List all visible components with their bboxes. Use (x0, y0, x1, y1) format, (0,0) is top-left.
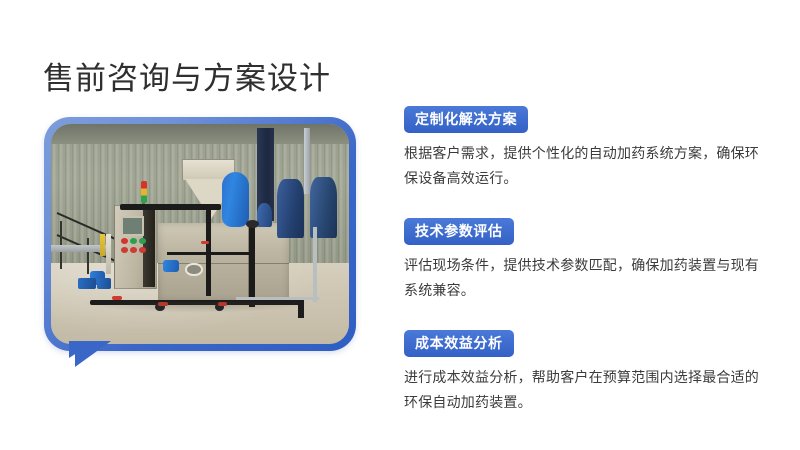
photo-pilot-lamp (139, 238, 146, 244)
photo-stack-light (141, 181, 147, 203)
photo-blue-mixing-drum (222, 172, 249, 227)
feature-item-custom-solution: 定制化解决方案 根据客户需求，提供个性化的自动加药系统方案，确保环保设备高效运行… (404, 106, 770, 191)
photo-rail-post (87, 238, 89, 273)
photo-pilot-lamp (130, 238, 137, 244)
photo-small-vessel (257, 203, 272, 227)
photo-speech-bubble (44, 117, 356, 351)
feature-badge-custom-solution[interactable]: 定制化解决方案 (404, 106, 528, 133)
feature-body-cost-benefit: 进行成本效益分析，帮助客户在预算范围内选择最合适的环保自动加药装置。 (404, 365, 760, 415)
page-title: 售前咨询与方案设计 (43, 59, 331, 99)
speech-bubble-tail (75, 341, 111, 367)
photo-pilot-lamp (121, 247, 128, 253)
feature-item-cost-benefit: 成本效益分析 进行成本效益分析，帮助客户在预算范围内选择最合适的环保自动加药装置… (404, 330, 770, 415)
photo-pipe-mid (167, 252, 250, 256)
photo-dosing-pump (97, 278, 110, 289)
photo-pipe-joint (246, 220, 259, 228)
photo-cabinet-side (143, 205, 155, 286)
photo-hmi-screen (121, 216, 144, 235)
feature-list: 定制化解决方案 根据客户需求，提供个性化的自动加药系统方案，确保环保设备高效运行… (404, 106, 770, 429)
photo-skid-frame (236, 297, 319, 300)
photo-wall-pipe (304, 128, 310, 194)
feature-badge-technical-assessment[interactable]: 技术参数评估 (404, 218, 514, 245)
photo-pipe-vertical (249, 223, 255, 307)
photo-pressure-vessel (277, 179, 304, 238)
photo-yellow-column (100, 234, 105, 256)
photo-red-valve-handle (201, 241, 209, 245)
feature-item-technical-assessment: 技术参数评估 评估现场条件，提供技术参数匹配，确保加药装置与现有系统兼容。 (404, 218, 770, 303)
photo-ground-shadow (81, 302, 313, 313)
photo-blue-valve (163, 260, 179, 272)
photo-red-valve-handle (112, 296, 122, 300)
photo-dosing-pump (78, 278, 96, 289)
photo-level-column (106, 234, 110, 274)
feature-body-technical-assessment: 评估现场条件，提供技术参数匹配，确保加药装置与现有系统兼容。 (404, 253, 760, 303)
photo-pilot-lamp (139, 247, 146, 253)
photo-handwheel-valve (185, 263, 202, 277)
photo-skid-frame (313, 227, 317, 302)
feature-badge-cost-benefit[interactable]: 成本效益分析 (404, 330, 514, 357)
photo-pilot-lamp (130, 247, 137, 253)
feature-body-custom-solution: 根据客户需求，提供个性化的自动加药系统方案，确保环保设备高效运行。 (404, 141, 760, 191)
photo-pilot-lamp (121, 238, 128, 244)
equipment-photo (51, 124, 349, 344)
